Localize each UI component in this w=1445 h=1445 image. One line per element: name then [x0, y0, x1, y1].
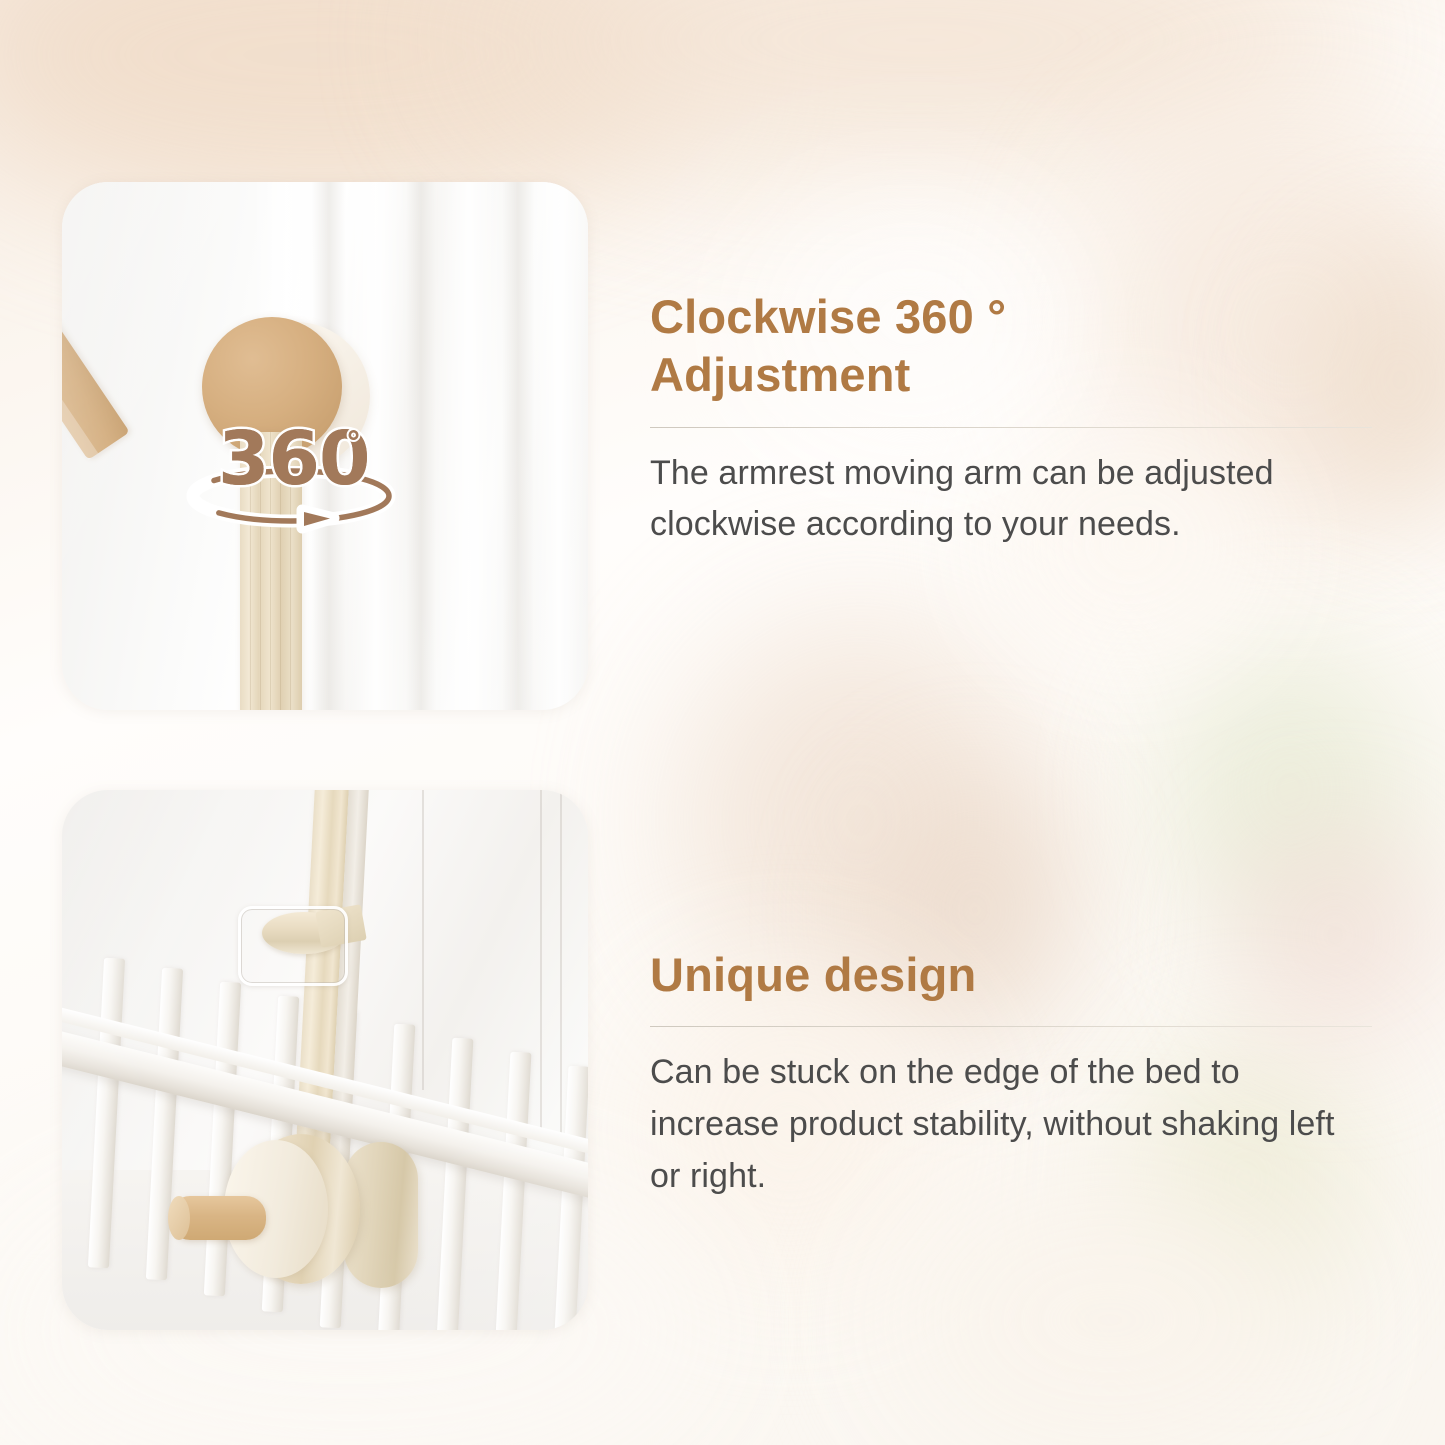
- crib-photo-scene: [62, 790, 588, 1330]
- feature-body-text: Can be stuck on the edge of the bed to i…: [650, 1047, 1372, 1202]
- rotation-360-icon: 360 360 ° °: [184, 420, 399, 540]
- wall-panel-line: [422, 790, 424, 1090]
- knob-peg-end-cap: [168, 1196, 190, 1240]
- highlight-callout-box: [238, 906, 348, 986]
- curtain-fold: [436, 182, 502, 710]
- armrest-pivot-photo: 360 360 ° °: [62, 182, 588, 710]
- heading-divider: [650, 1026, 1372, 1027]
- feature-body-text: The armrest moving arm can be adjusted c…: [650, 448, 1372, 551]
- heading-divider: [650, 427, 1372, 428]
- feature-block-clockwise-adjustment: Clockwise 360 °Adjustment The armrest mo…: [650, 288, 1372, 551]
- feature-heading-line-2: Adjustment: [650, 348, 911, 401]
- curtain-fold: [530, 182, 588, 710]
- feature-heading-line-1: Clockwise 360 °: [650, 290, 1006, 343]
- wooden-disc-knob: [214, 1134, 362, 1286]
- wall-panel-line: [560, 790, 562, 1135]
- feature-heading: Clockwise 360 °Adjustment: [650, 288, 1372, 405]
- armrest-photo-scene: 360 360 ° °: [62, 182, 588, 710]
- feature-block-unique-design: Unique design Can be stuck on the edge o…: [650, 946, 1372, 1202]
- curtain-fold: [406, 182, 436, 710]
- crib-rail-clamp-photo: [62, 790, 588, 1330]
- wall-panel-line: [540, 790, 542, 1130]
- background-bokeh-blob: [900, 1180, 1320, 1445]
- feature-heading: Unique design: [650, 946, 1372, 1004]
- degree-symbol: °: [346, 426, 361, 461]
